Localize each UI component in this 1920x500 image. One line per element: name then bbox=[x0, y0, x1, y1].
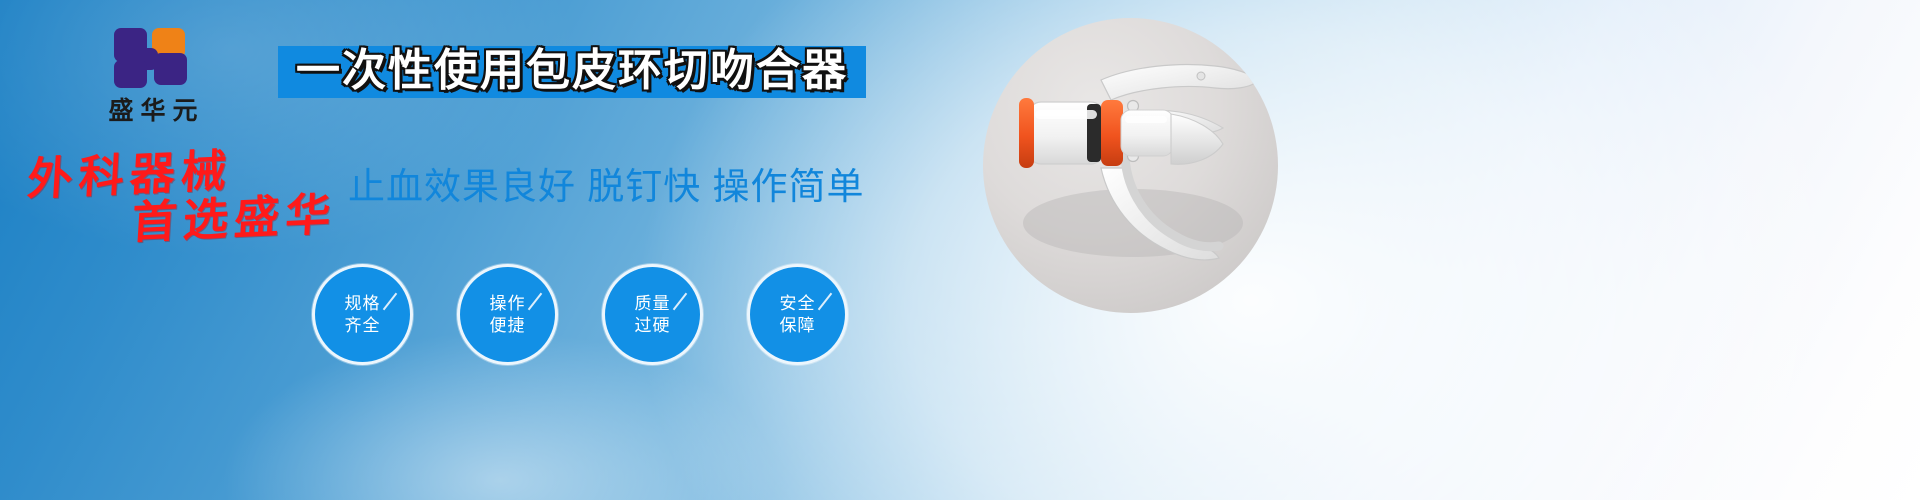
promo-banner: 盛华元 外科器械 首选盛华 一次性使用包皮环切吻合器 止血效果良好 脱钉快 操作… bbox=[0, 0, 1920, 500]
feature-badge-line-2: 便捷 bbox=[490, 315, 526, 337]
brand-name: 盛华元 bbox=[63, 99, 243, 124]
product-illustration-icon bbox=[983, 18, 1278, 313]
feature-badge-line-1: 安全 bbox=[780, 293, 816, 315]
product-title: 一次性使用包皮环切吻合器 bbox=[296, 49, 848, 93]
logo-mark-icon bbox=[114, 28, 192, 90]
slash-decoration-icon bbox=[383, 293, 398, 311]
product-subtitle: 止血效果良好 脱钉快 操作简单 bbox=[348, 168, 865, 205]
feature-badge-line-2: 过硬 bbox=[635, 315, 671, 337]
feature-badge-line-1: 操作 bbox=[490, 293, 526, 315]
slash-decoration-icon bbox=[528, 293, 543, 311]
feature-badge-specs: 规格 齐全 bbox=[312, 264, 413, 365]
feature-badge-quality: 质量 过硬 bbox=[602, 264, 703, 365]
feature-badge-list: 规格 齐全 操作 便捷 质量 过硬 安全 保障 bbox=[312, 264, 848, 365]
slash-decoration-icon bbox=[673, 293, 688, 311]
feature-badge-line-1: 规格 bbox=[345, 293, 381, 315]
feature-badge-line-2: 保障 bbox=[780, 315, 816, 337]
brand-logo: 盛华元 bbox=[63, 28, 243, 124]
slash-decoration-icon bbox=[818, 293, 833, 311]
feature-badge-line-1: 质量 bbox=[635, 293, 671, 315]
product-title-bar: 一次性使用包皮环切吻合器 bbox=[278, 46, 866, 98]
feature-badge-safety: 安全 保障 bbox=[747, 264, 848, 365]
product-photo bbox=[983, 18, 1278, 313]
feature-badge-line-2: 齐全 bbox=[345, 315, 381, 337]
calligraphy-slogan: 外科器械 首选盛华 bbox=[20, 150, 350, 245]
feature-badge-operation: 操作 便捷 bbox=[457, 264, 558, 365]
